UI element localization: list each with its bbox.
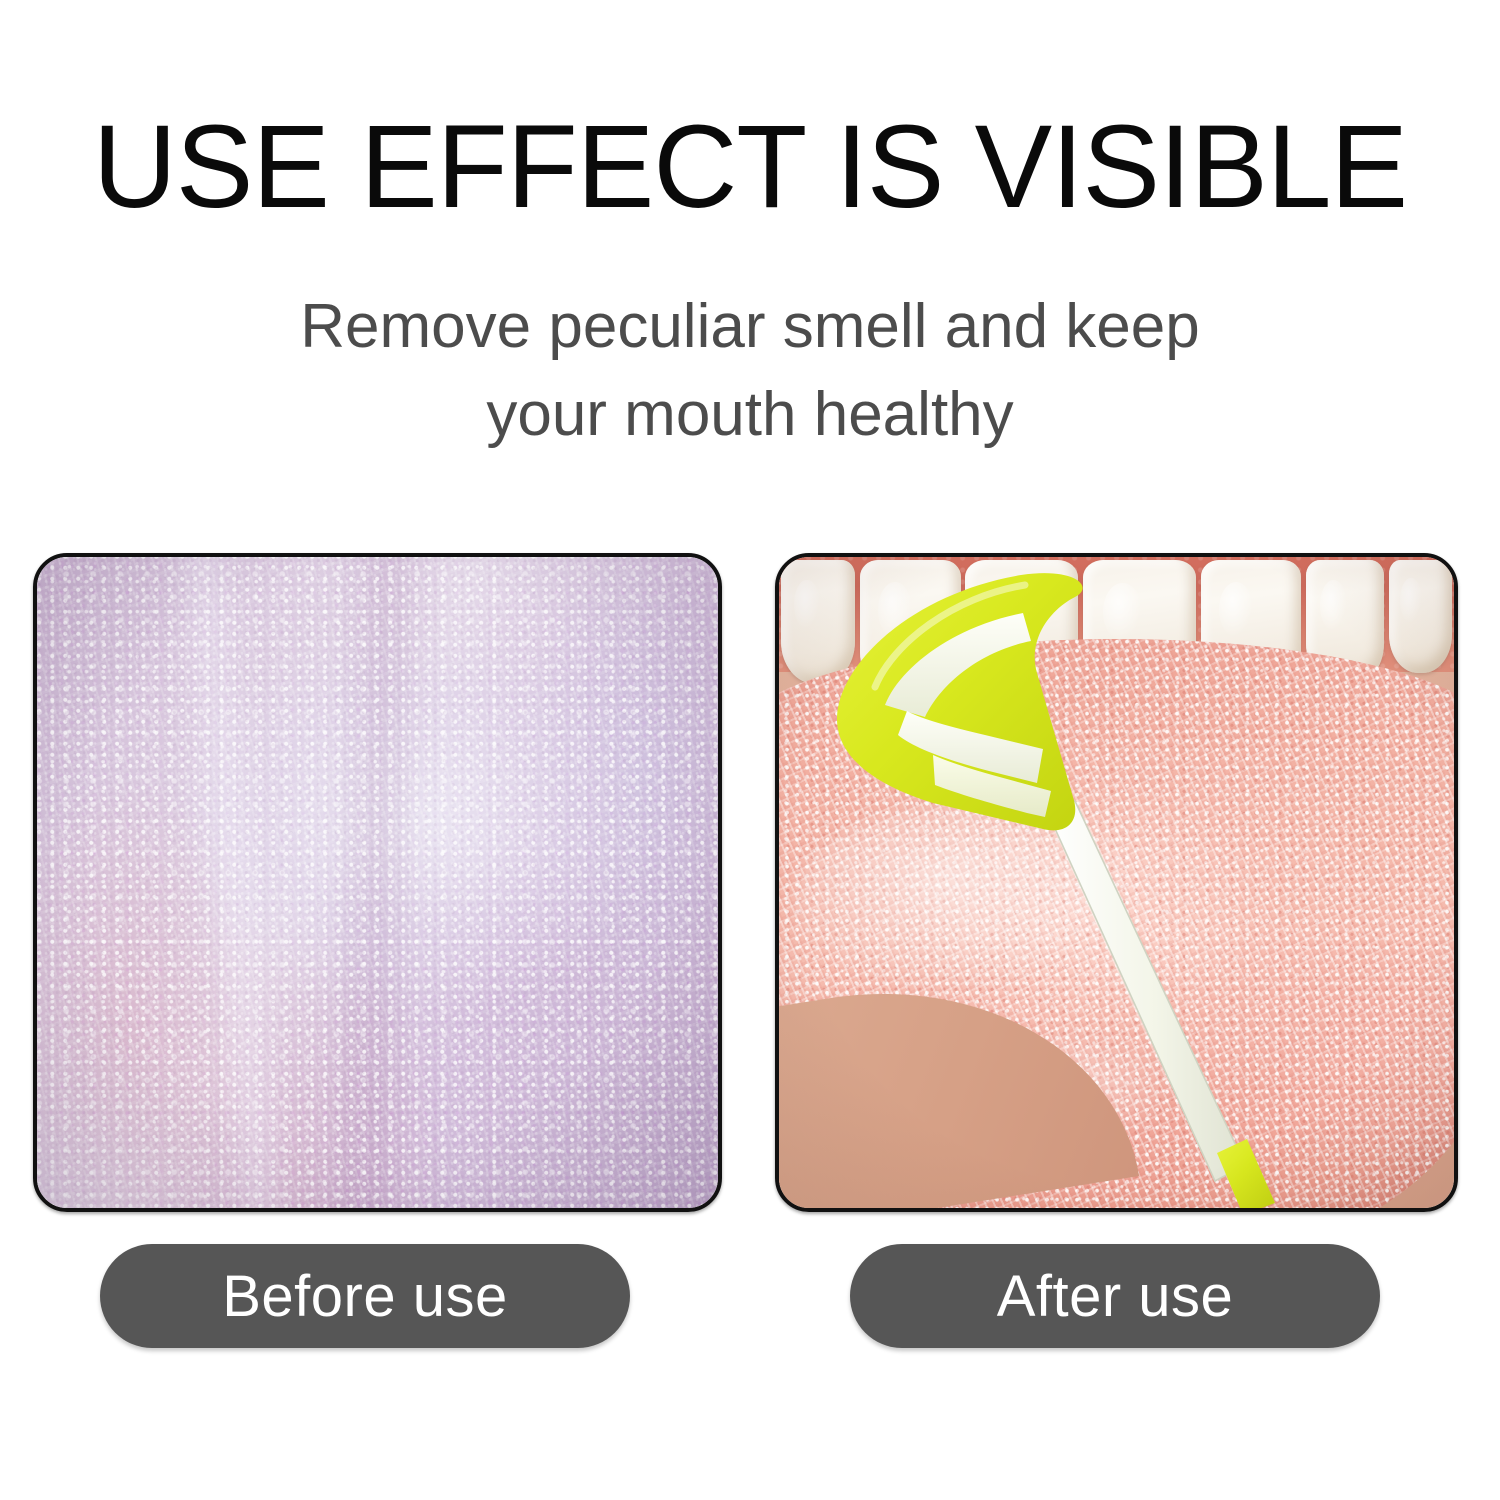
before-use-label: Before use [222,1263,508,1330]
subtitle: Remove peculiar smell and keep your mout… [0,283,1500,459]
after-photo-inner [779,557,1454,1208]
after-use-label: After use [997,1263,1234,1330]
before-photo-inner [37,557,718,1208]
subtitle-line-2: your mouth healthy [0,371,1500,459]
before-use-badge: Before use [100,1244,630,1348]
before-photo [33,553,722,1212]
promo-page: USE EFFECT IS VISIBLE Remove peculiar sm… [0,0,1500,1500]
after-photo [775,553,1458,1212]
page-title: USE EFFECT IS VISIBLE [11,108,1489,226]
after-photo-vignette [779,557,1454,1208]
before-photo-vignette [37,557,718,1208]
subtitle-line-1: Remove peculiar smell and keep [0,283,1500,371]
after-use-badge: After use [850,1244,1380,1348]
